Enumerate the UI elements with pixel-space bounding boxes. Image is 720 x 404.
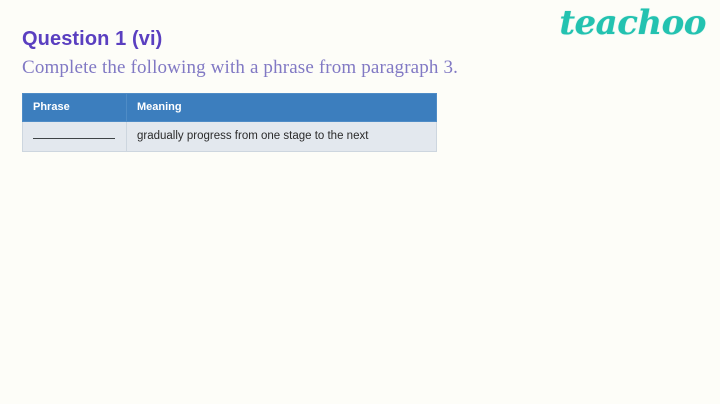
answer-blank-line[interactable] [33, 129, 115, 139]
phrase-meaning-table: Phrase Meaning gradually progress from o… [22, 93, 437, 152]
table-row: gradually progress from one stage to the… [23, 122, 437, 152]
question-slide: teachoo Question 1 (vi) Complete the fol… [0, 0, 720, 404]
question-instruction: Complete the following with a phrase fro… [22, 57, 458, 79]
column-header-phrase: Phrase [23, 94, 127, 122]
teachoo-logo: teachoo [559, 6, 706, 40]
cell-meaning: gradually progress from one stage to the… [127, 122, 437, 152]
column-header-meaning: Meaning [127, 94, 437, 122]
cell-phrase-answer[interactable] [23, 122, 127, 152]
table-header-row: Phrase Meaning [23, 94, 437, 122]
page-title: Question 1 (vi) [22, 28, 162, 50]
